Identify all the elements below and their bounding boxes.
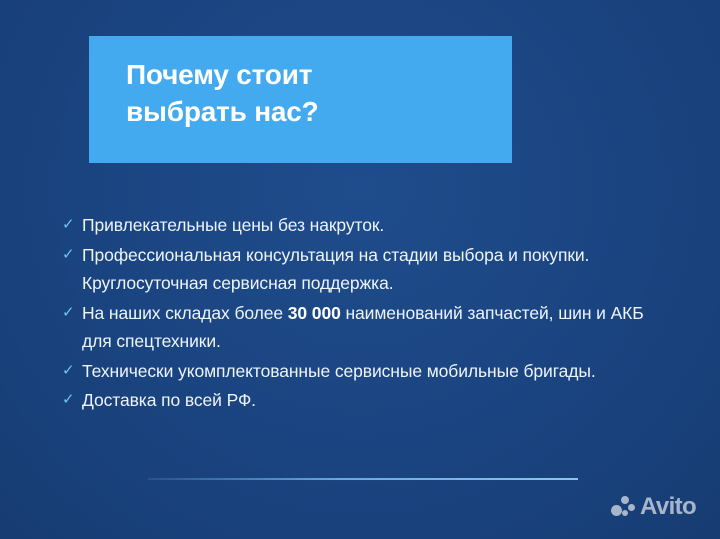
slide-canvas: Почему стоит выбрать нас? ✓Привлекательн… — [0, 0, 720, 539]
list-item-label: Профессиональная консультация на стадии … — [82, 241, 662, 298]
list-item: ✓Доставка по всей РФ. — [62, 386, 662, 415]
page-title-line-1: Почему стоит — [126, 56, 512, 93]
avito-dots-icon — [611, 496, 637, 518]
list-item-label: На наших складах более 30 000 наименован… — [82, 299, 662, 356]
check-icon: ✓ — [62, 386, 82, 415]
list-item-label: Привлекательные цены без накруток. — [82, 211, 662, 240]
text-run: Технически укомплектованные сервисные мо… — [82, 361, 596, 381]
highlight-value: 30 000 — [288, 303, 341, 323]
check-icon: ✓ — [62, 299, 82, 328]
avito-brand-label: Avito — [640, 496, 696, 518]
list-item: ✓Привлекательные цены без накруток. — [62, 211, 662, 240]
list-item: ✓Технически укомплектованные сервисные м… — [62, 357, 662, 386]
text-run: Привлекательные цены без накруток. — [82, 215, 384, 235]
text-run: На наших складах более — [82, 303, 288, 323]
text-run: Доставка по всей РФ. — [82, 390, 256, 410]
list-item: ✓На наших складах более 30 000 наименова… — [62, 299, 662, 356]
page-title-line-2: выбрать нас? — [126, 93, 512, 130]
list-item-label: Доставка по всей РФ. — [82, 386, 662, 415]
list-item: ✓Профессиональная консультация на стадии… — [62, 241, 662, 298]
benefits-list: ✓Привлекательные цены без накруток.✓Проф… — [62, 211, 662, 416]
title-banner: Почему стоит выбрать нас? — [89, 36, 512, 163]
avito-watermark: Avito — [611, 496, 696, 518]
check-icon: ✓ — [62, 357, 82, 386]
list-item-label: Технически укомплектованные сервисные мо… — [82, 357, 662, 386]
check-icon: ✓ — [62, 211, 82, 240]
text-run: Профессиональная консультация на стадии … — [82, 245, 589, 294]
check-icon: ✓ — [62, 241, 82, 270]
section-divider — [148, 478, 578, 480]
